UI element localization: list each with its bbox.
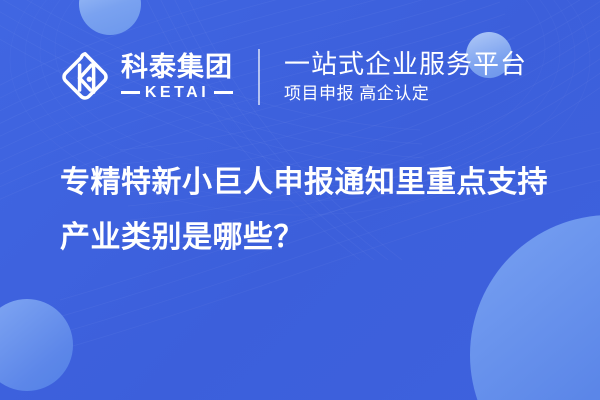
decorative-circle-left xyxy=(0,299,73,391)
decorative-circle-top-left xyxy=(79,0,141,35)
title-block: 专精特新小巨人申报通知里重点支持产业类别是哪些？ xyxy=(60,155,560,265)
logo-company-name-en: KETAI xyxy=(140,85,214,101)
page-title: 专精特新小巨人申报通知里重点支持产业类别是哪些？ xyxy=(60,155,560,265)
tagline-primary: 一站式企业服务平台 xyxy=(284,49,527,79)
logo-dash-left xyxy=(121,91,140,94)
banner-header: 科泰集团 KETAI 一站式企业服务平台 项目申报 高企认定 xyxy=(0,38,600,116)
logo-company-name-cn: 科泰集团 xyxy=(121,53,233,81)
tagline-block: 一站式企业服务平台 项目申报 高企认定 xyxy=(284,49,527,105)
logo-dash-right xyxy=(214,91,233,94)
logo-wordmark: 科泰集团 KETAI xyxy=(121,53,233,100)
tagline-secondary: 项目申报 高企认定 xyxy=(284,84,527,104)
ketai-kp-monogram-icon xyxy=(58,50,112,104)
logo-english-row: KETAI xyxy=(121,85,233,101)
header-divider xyxy=(258,49,260,105)
brand-logo[interactable]: 科泰集团 KETAI xyxy=(58,50,233,104)
promo-banner: 科泰集团 KETAI 一站式企业服务平台 项目申报 高企认定 专精特新小巨人申报… xyxy=(0,0,600,400)
